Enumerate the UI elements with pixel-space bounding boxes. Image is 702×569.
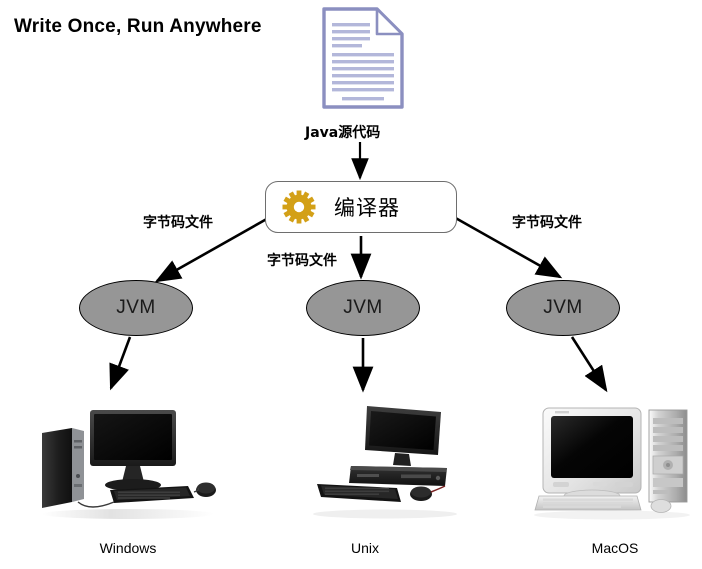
edge-jvm-to-macos — [572, 337, 606, 390]
jvm-node-windows[interactable]: JVM — [79, 280, 193, 336]
desktop-computer-beige-icon — [512, 398, 702, 523]
os-label-macos: MacOS — [535, 540, 695, 556]
desktop-computer-black-icon — [28, 398, 228, 523]
os-label-windows: Windows — [48, 540, 208, 556]
edge-jvm-to-windows — [111, 337, 130, 388]
page-title: Write Once, Run Anywhere — [14, 16, 262, 38]
compiler-label: 编译器 — [334, 192, 400, 222]
edge-label-middle: 字节码文件 — [267, 250, 337, 270]
diagram-canvas: Write Once, Run Anywhere — [0, 0, 702, 569]
jvm-node-unix[interactable]: JVM — [306, 280, 420, 336]
compiler-node[interactable]: 编译器 — [265, 181, 457, 233]
jvm-label: JVM — [343, 297, 383, 319]
jvm-node-macos[interactable]: JVM — [506, 280, 620, 336]
edge-label-left: 字节码文件 — [143, 212, 213, 232]
os-label-unix: Unix — [285, 540, 445, 556]
jvm-label: JVM — [543, 297, 583, 319]
edge-label-right: 字节码文件 — [512, 212, 582, 232]
document-icon — [320, 6, 406, 111]
desktop-computer-black-flat-icon — [285, 398, 485, 523]
jvm-label: JVM — [116, 297, 156, 319]
source-label: Java源代码 — [305, 122, 380, 142]
gear-icon — [282, 190, 316, 224]
